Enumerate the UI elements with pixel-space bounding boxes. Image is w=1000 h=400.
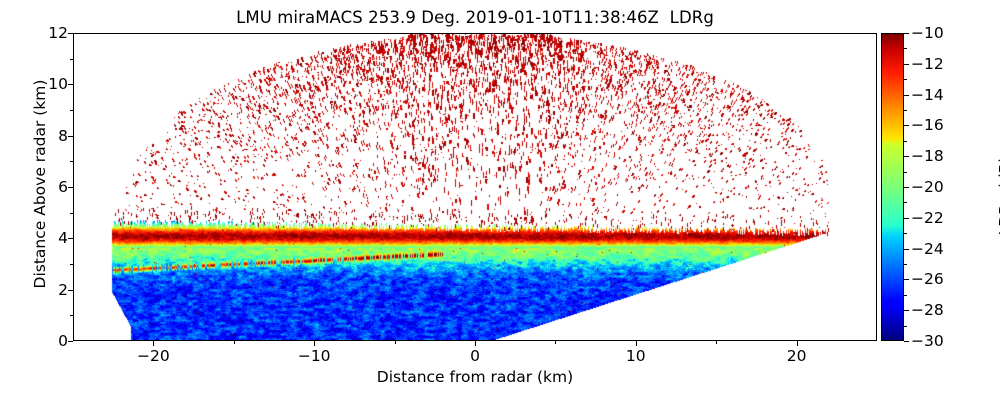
colorbar-tick-mark [904,218,909,219]
x-tick-mark [153,341,154,346]
plot-area [73,33,877,341]
colorbar-gradient [882,34,903,340]
x-tick-mark [636,341,637,346]
x-tick-label: 20 [787,347,807,365]
y-minor-tick [70,59,73,60]
colorbar-minor-tick [904,79,907,80]
x-minor-tick [234,341,235,344]
colorbar-tick-label: −30 [911,332,944,350]
radar-rhi-figure: LMU miraMACS 253.9 Deg. 2019-01-10T11:38… [0,0,1000,400]
colorbar-minor-tick [904,326,907,327]
y-axis-label: Distance Above radar (km) [31,24,49,344]
colorbar-minor-tick [904,141,907,142]
x-minor-tick [395,341,396,344]
y-tick-label: 6 [58,178,68,196]
y-tick-label: 4 [58,229,68,247]
colorbar-tick-mark [904,156,909,157]
x-tick-mark [314,341,315,346]
colorbar-tick-label: −14 [911,86,944,104]
y-tick-mark [68,136,73,137]
x-minor-tick [716,341,717,344]
colorbar-minor-tick [904,264,907,265]
colorbar-tick-label: −22 [911,209,944,227]
colorbar-tick-label: −10 [911,24,944,42]
y-tick-mark [68,84,73,85]
colorbar-tick-mark [904,95,909,96]
y-tick-label: 0 [58,332,68,350]
colorbar-minor-tick [904,233,907,234]
colorbar-label: LDRg (dB) [996,46,1000,346]
colorbar-minor-tick [904,110,907,111]
colorbar-minor-tick [904,202,907,203]
y-tick-mark [68,290,73,291]
colorbar [881,33,904,341]
radar-data-canvas [74,34,876,340]
colorbar-tick-mark [904,310,909,311]
colorbar-tick-label: −20 [911,178,944,196]
colorbar-tick-mark [904,279,909,280]
colorbar-tick-label: −28 [911,301,944,319]
y-tick-label: 2 [58,281,68,299]
colorbar-tick-mark [904,125,909,126]
x-tick-label: 0 [470,347,480,365]
y-tick-mark [68,187,73,188]
y-minor-tick [70,110,73,111]
y-minor-tick [70,315,73,316]
colorbar-minor-tick [904,295,907,296]
y-minor-tick [70,161,73,162]
y-minor-tick [70,264,73,265]
x-tick-mark [475,341,476,346]
colorbar-minor-tick [904,172,907,173]
colorbar-tick-label: −24 [911,240,944,258]
x-axis-label: Distance from radar (km) [73,368,877,386]
colorbar-tick-mark [904,187,909,188]
x-tick-label: 10 [626,347,646,365]
colorbar-tick-label: −18 [911,147,944,165]
figure-title: LMU miraMACS 253.9 Deg. 2019-01-10T11:38… [0,8,950,27]
y-tick-label: 12 [48,24,68,42]
y-tick-label: 8 [58,127,68,145]
colorbar-tick-label: −26 [911,270,944,288]
y-tick-mark [68,341,73,342]
y-tick-mark [68,238,73,239]
colorbar-tick-mark [904,341,909,342]
y-tick-label: 10 [48,75,68,93]
colorbar-tick-mark [904,64,909,65]
x-minor-tick [555,341,556,344]
colorbar-tick-label: −12 [911,55,944,73]
colorbar-tick-mark [904,33,909,34]
colorbar-minor-tick [904,48,907,49]
x-tick-label: −10 [298,347,331,365]
colorbar-tick-mark [904,249,909,250]
x-tick-label: −20 [137,347,170,365]
x-tick-mark [797,341,798,346]
y-tick-mark [68,33,73,34]
y-minor-tick [70,213,73,214]
colorbar-tick-label: −16 [911,116,944,134]
